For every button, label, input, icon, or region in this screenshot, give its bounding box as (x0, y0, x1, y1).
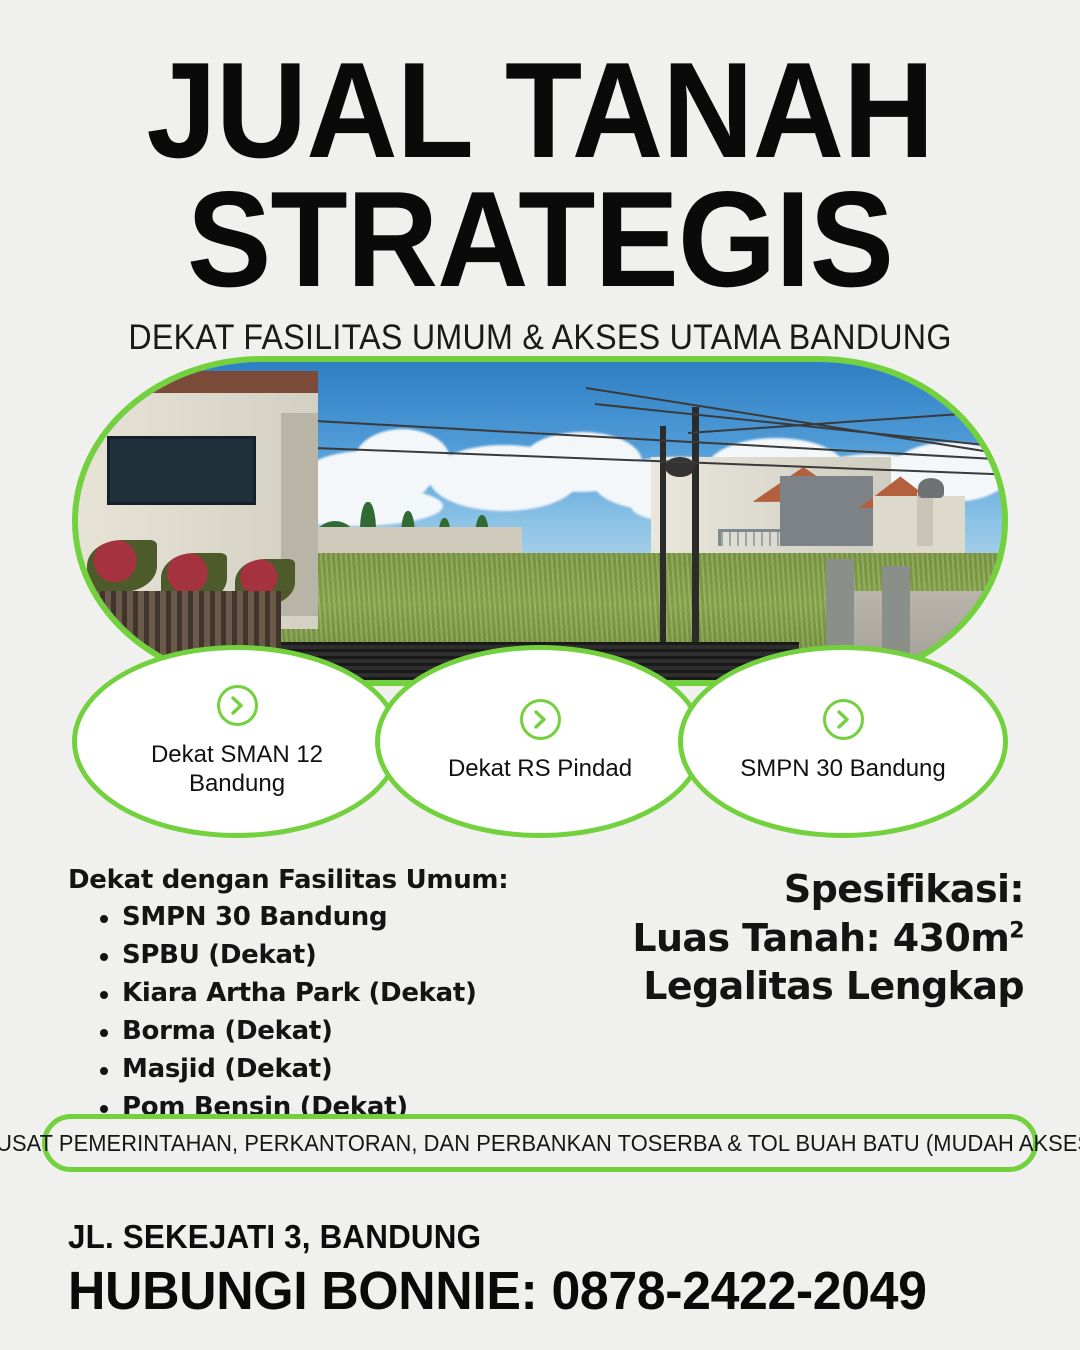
minaret-dome (918, 478, 944, 498)
chevron-right-icon (823, 699, 864, 740)
list-item: Borma (Dekat) (100, 1013, 558, 1051)
land-area-text: Luas Tanah: 430m (632, 916, 1009, 960)
window (107, 436, 256, 505)
minaret (917, 492, 933, 546)
building (780, 476, 872, 546)
page-title-line2: STRATEGIS (38, 177, 1042, 302)
feature-badges: Dekat SMAN 12 Bandung Dekat RS Pindad SM… (72, 645, 1008, 840)
utility-pole (692, 407, 699, 655)
plant (87, 540, 157, 592)
feature-badge[interactable]: SMPN 30 Bandung (678, 645, 1008, 838)
fence-post (882, 566, 910, 655)
feature-badge[interactable]: Dekat SMAN 12 Bandung (72, 645, 402, 838)
fence-post (826, 559, 854, 654)
footer: JL. SEKEJATI 3, BANDUNG HUBUNGI BONNIE: … (68, 1218, 1028, 1322)
feature-badge-label: Dekat RS Pindad (448, 754, 632, 783)
address-text: JL. SEKEJATI 3, BANDUNG (68, 1218, 980, 1256)
list-item: SMPN 30 Bandung (100, 899, 558, 937)
feature-badge[interactable]: Dekat RS Pindad (375, 645, 705, 838)
list-item: Kiara Artha Park (Dekat) (100, 975, 558, 1013)
legality-value: Legalitas Lengkap (594, 962, 1024, 1011)
header: JUAL TANAH STRATEGIS DEKAT FASILITAS UMU… (0, 0, 1080, 358)
land-area-unit-exponent: 2 (1009, 918, 1024, 943)
page-subtitle: DEKAT FASILITAS UMUM & AKSES UTAMA BANDU… (43, 318, 1037, 358)
list-item: SPBU (Dekat) (100, 937, 558, 975)
chevron-right-icon (520, 699, 561, 740)
feature-badge-label: SMPN 30 Bandung (740, 754, 945, 783)
list-item: Masjid (Dekat) (100, 1051, 558, 1089)
feature-badge-label: Dekat SMAN 12 Bandung (111, 740, 363, 799)
land-area-value: Luas Tanah: 430m2 (594, 914, 1024, 963)
property-photo-scene (78, 362, 1002, 680)
location-banner-text: PUSAT PEMERINTAHAN, PERKANTORAN, DAN PER… (0, 1130, 1080, 1157)
facilities-list: SMPN 30 Bandung SPBU (Dekat) Kiara Artha… (100, 899, 558, 1127)
roof (88, 371, 319, 393)
specifications-section: Spesifikasi: Luas Tanah: 430m2 Legalitas… (594, 865, 1024, 1011)
contact-text[interactable]: HUBUNGI BONNIE: 0878-2422-2049 (68, 1260, 990, 1322)
poster-root: JUAL TANAH STRATEGIS DEKAT FASILITAS UMU… (0, 0, 1080, 1350)
facilities-title: Dekat dengan Fasilitas Umum: (68, 865, 558, 895)
property-photo (72, 356, 1008, 686)
chevron-right-icon (217, 685, 258, 726)
page-title-line1: JUAL TANAH (38, 48, 1042, 173)
specifications-heading: Spesifikasi: (594, 865, 1024, 914)
facilities-section: Dekat dengan Fasilitas Umum: SMPN 30 Ban… (68, 865, 558, 1127)
location-banner: PUSAT PEMERINTAHAN, PERKANTORAN, DAN PER… (42, 1114, 1038, 1172)
